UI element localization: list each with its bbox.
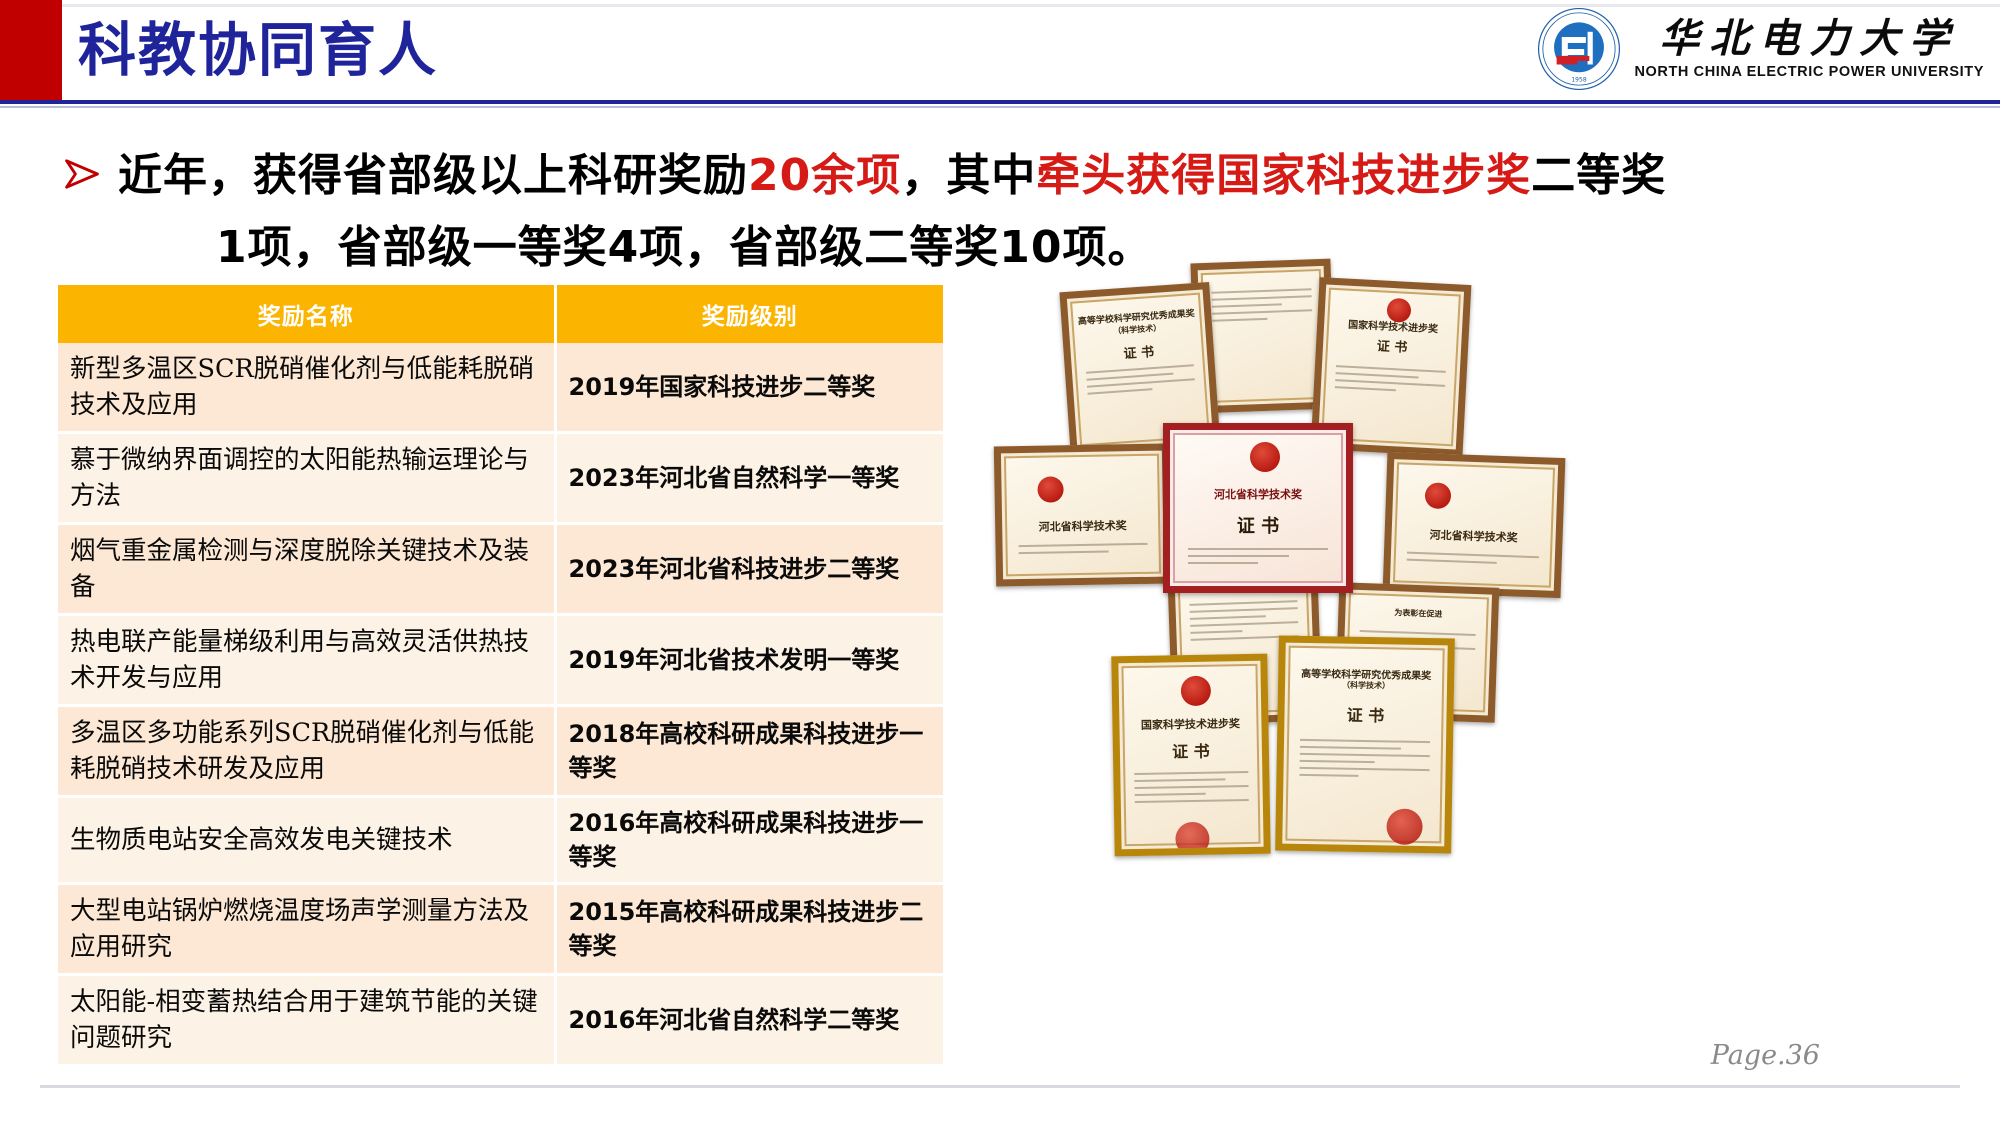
table-row: 大型电站锅炉燃烧温度场声学测量方法及应用研究 2015年高校科研成果科技进步二等… bbox=[58, 884, 943, 975]
table-row: 慕于微纳界面调控的太阳能热输运理论与方法 2023年河北省自然科学一等奖 bbox=[58, 433, 943, 524]
cell-award-name: 烟气重金属检测与深度脱除关键技术及装备 bbox=[58, 524, 555, 615]
award-certificates-photo-collage: 高等学校科学研究优秀成果奖 （科学技术） 证 书 国家科学技术进步奖 证 书 河… bbox=[985, 255, 1605, 865]
table-row: 新型多温区SCR脱硝催化剂与低能耗脱硝技术及应用 2019年国家科技进步二等奖 bbox=[58, 343, 943, 433]
certificate-image: 高等学校科学研究优秀成果奖 （科学技术） 证 书 bbox=[1275, 635, 1455, 853]
certificate-image: 河北省科学技术奖 bbox=[994, 443, 1171, 586]
cell-award-level: 2018年高校科研成果科技进步一等奖 bbox=[555, 706, 943, 797]
bullet-seg-2-highlight: 20余项 bbox=[748, 150, 901, 201]
cell-award-level: 2016年高校科研成果科技进步一等奖 bbox=[555, 797, 943, 884]
column-header-award-level: 奖励级别 bbox=[555, 285, 943, 343]
bullet-seg-3: ，其中 bbox=[901, 150, 1036, 201]
cell-award-level: 2015年高校科研成果科技进步二等奖 bbox=[555, 884, 943, 975]
header-red-accent-bar bbox=[0, 0, 62, 103]
certificate-image: 河北省科学技术奖 bbox=[1383, 452, 1566, 598]
table-row: 热电联产能量梯级利用与高效灵活供热技术开发与应用 2019年河北省技术发明一等奖 bbox=[58, 615, 943, 706]
cell-award-level: 2019年河北省技术发明一等奖 bbox=[555, 615, 943, 706]
table-row: 生物质电站安全高效发电关键技术 2016年高校科研成果科技进步一等奖 bbox=[58, 797, 943, 884]
arrow-bullet-icon bbox=[60, 152, 104, 196]
certificate-image: 国家科学技术进步奖 证 书 bbox=[1111, 654, 1270, 857]
university-logo: 1958 华北电力大学 NORTH CHINA ELECTRIC POWER U… bbox=[1536, 6, 1984, 92]
cell-award-level: 2016年河北省自然科学二等奖 bbox=[555, 975, 943, 1066]
slide-header: 科教协同育人 1958 华北电力大学 NORTH CHINA ELECTRIC … bbox=[0, 0, 2000, 108]
certificate-image-featured: 河北省科学技术奖 证 书 bbox=[1163, 423, 1353, 593]
cell-award-name: 热电联产能量梯级利用与高效灵活供热技术开发与应用 bbox=[58, 615, 555, 706]
cell-award-name: 太阳能-相变蓄热结合用于建筑节能的关键问题研究 bbox=[58, 975, 555, 1066]
column-header-award-name: 奖励名称 bbox=[58, 285, 555, 343]
bullet-line-1: 近年，获得省部级以上科研奖励20余项，其中牵头获得国家科技进步奖二等奖 bbox=[118, 140, 1940, 212]
cell-award-name: 多温区多功能系列SCR脱硝催化剂与低能耗脱硝技术研发及应用 bbox=[58, 706, 555, 797]
page-title: 科教协同育人 bbox=[78, 10, 438, 90]
header-bottom-rule-secondary bbox=[0, 106, 2000, 108]
cell-award-level: 2023年河北省自然科学一等奖 bbox=[555, 433, 943, 524]
logo-chinese-name: 华北电力大学 bbox=[1659, 16, 1959, 62]
cell-award-name: 大型电站锅炉燃烧温度场声学测量方法及应用研究 bbox=[58, 884, 555, 975]
cell-award-level: 2023年河北省科技进步二等奖 bbox=[555, 524, 943, 615]
table-row: 烟气重金属检测与深度脱除关键技术及装备 2023年河北省科技进步二等奖 bbox=[58, 524, 943, 615]
bullet-seg-1: 近年，获得省部级以上科研奖励 bbox=[118, 150, 748, 201]
bullet-seg-4-highlight: 牵头获得国家科技进步奖 bbox=[1036, 150, 1531, 201]
cell-award-name: 慕于微纳界面调控的太阳能热输运理论与方法 bbox=[58, 433, 555, 524]
table-row: 太阳能-相变蓄热结合用于建筑节能的关键问题研究 2016年河北省自然科学二等奖 bbox=[58, 975, 943, 1066]
page-number: Page.36 bbox=[1711, 1040, 1820, 1071]
logo-english-name: NORTH CHINA ELECTRIC POWER UNIVERSITY bbox=[1634, 62, 1984, 82]
slide-root: 科教协同育人 1958 华北电力大学 NORTH CHINA ELECTRIC … bbox=[0, 0, 2000, 1125]
bullet-seg-5: 二等奖 bbox=[1531, 150, 1666, 201]
header-bottom-rule bbox=[0, 100, 2000, 104]
cell-award-name: 生物质电站安全高效发电关键技术 bbox=[58, 797, 555, 884]
cell-award-level: 2019年国家科技进步二等奖 bbox=[555, 343, 943, 433]
ncepu-emblem-icon: 1958 bbox=[1536, 6, 1622, 92]
awards-table: 奖励名称 奖励级别 新型多温区SCR脱硝催化剂与低能耗脱硝技术及应用 2019年… bbox=[58, 285, 943, 1067]
table-row: 多温区多功能系列SCR脱硝催化剂与低能耗脱硝技术研发及应用 2018年高校科研成… bbox=[58, 706, 943, 797]
footer-divider bbox=[40, 1085, 1960, 1088]
table-header-row: 奖励名称 奖励级别 bbox=[58, 285, 943, 343]
cell-award-name: 新型多温区SCR脱硝催化剂与低能耗脱硝技术及应用 bbox=[58, 343, 555, 433]
svg-text:1958: 1958 bbox=[1572, 77, 1587, 84]
